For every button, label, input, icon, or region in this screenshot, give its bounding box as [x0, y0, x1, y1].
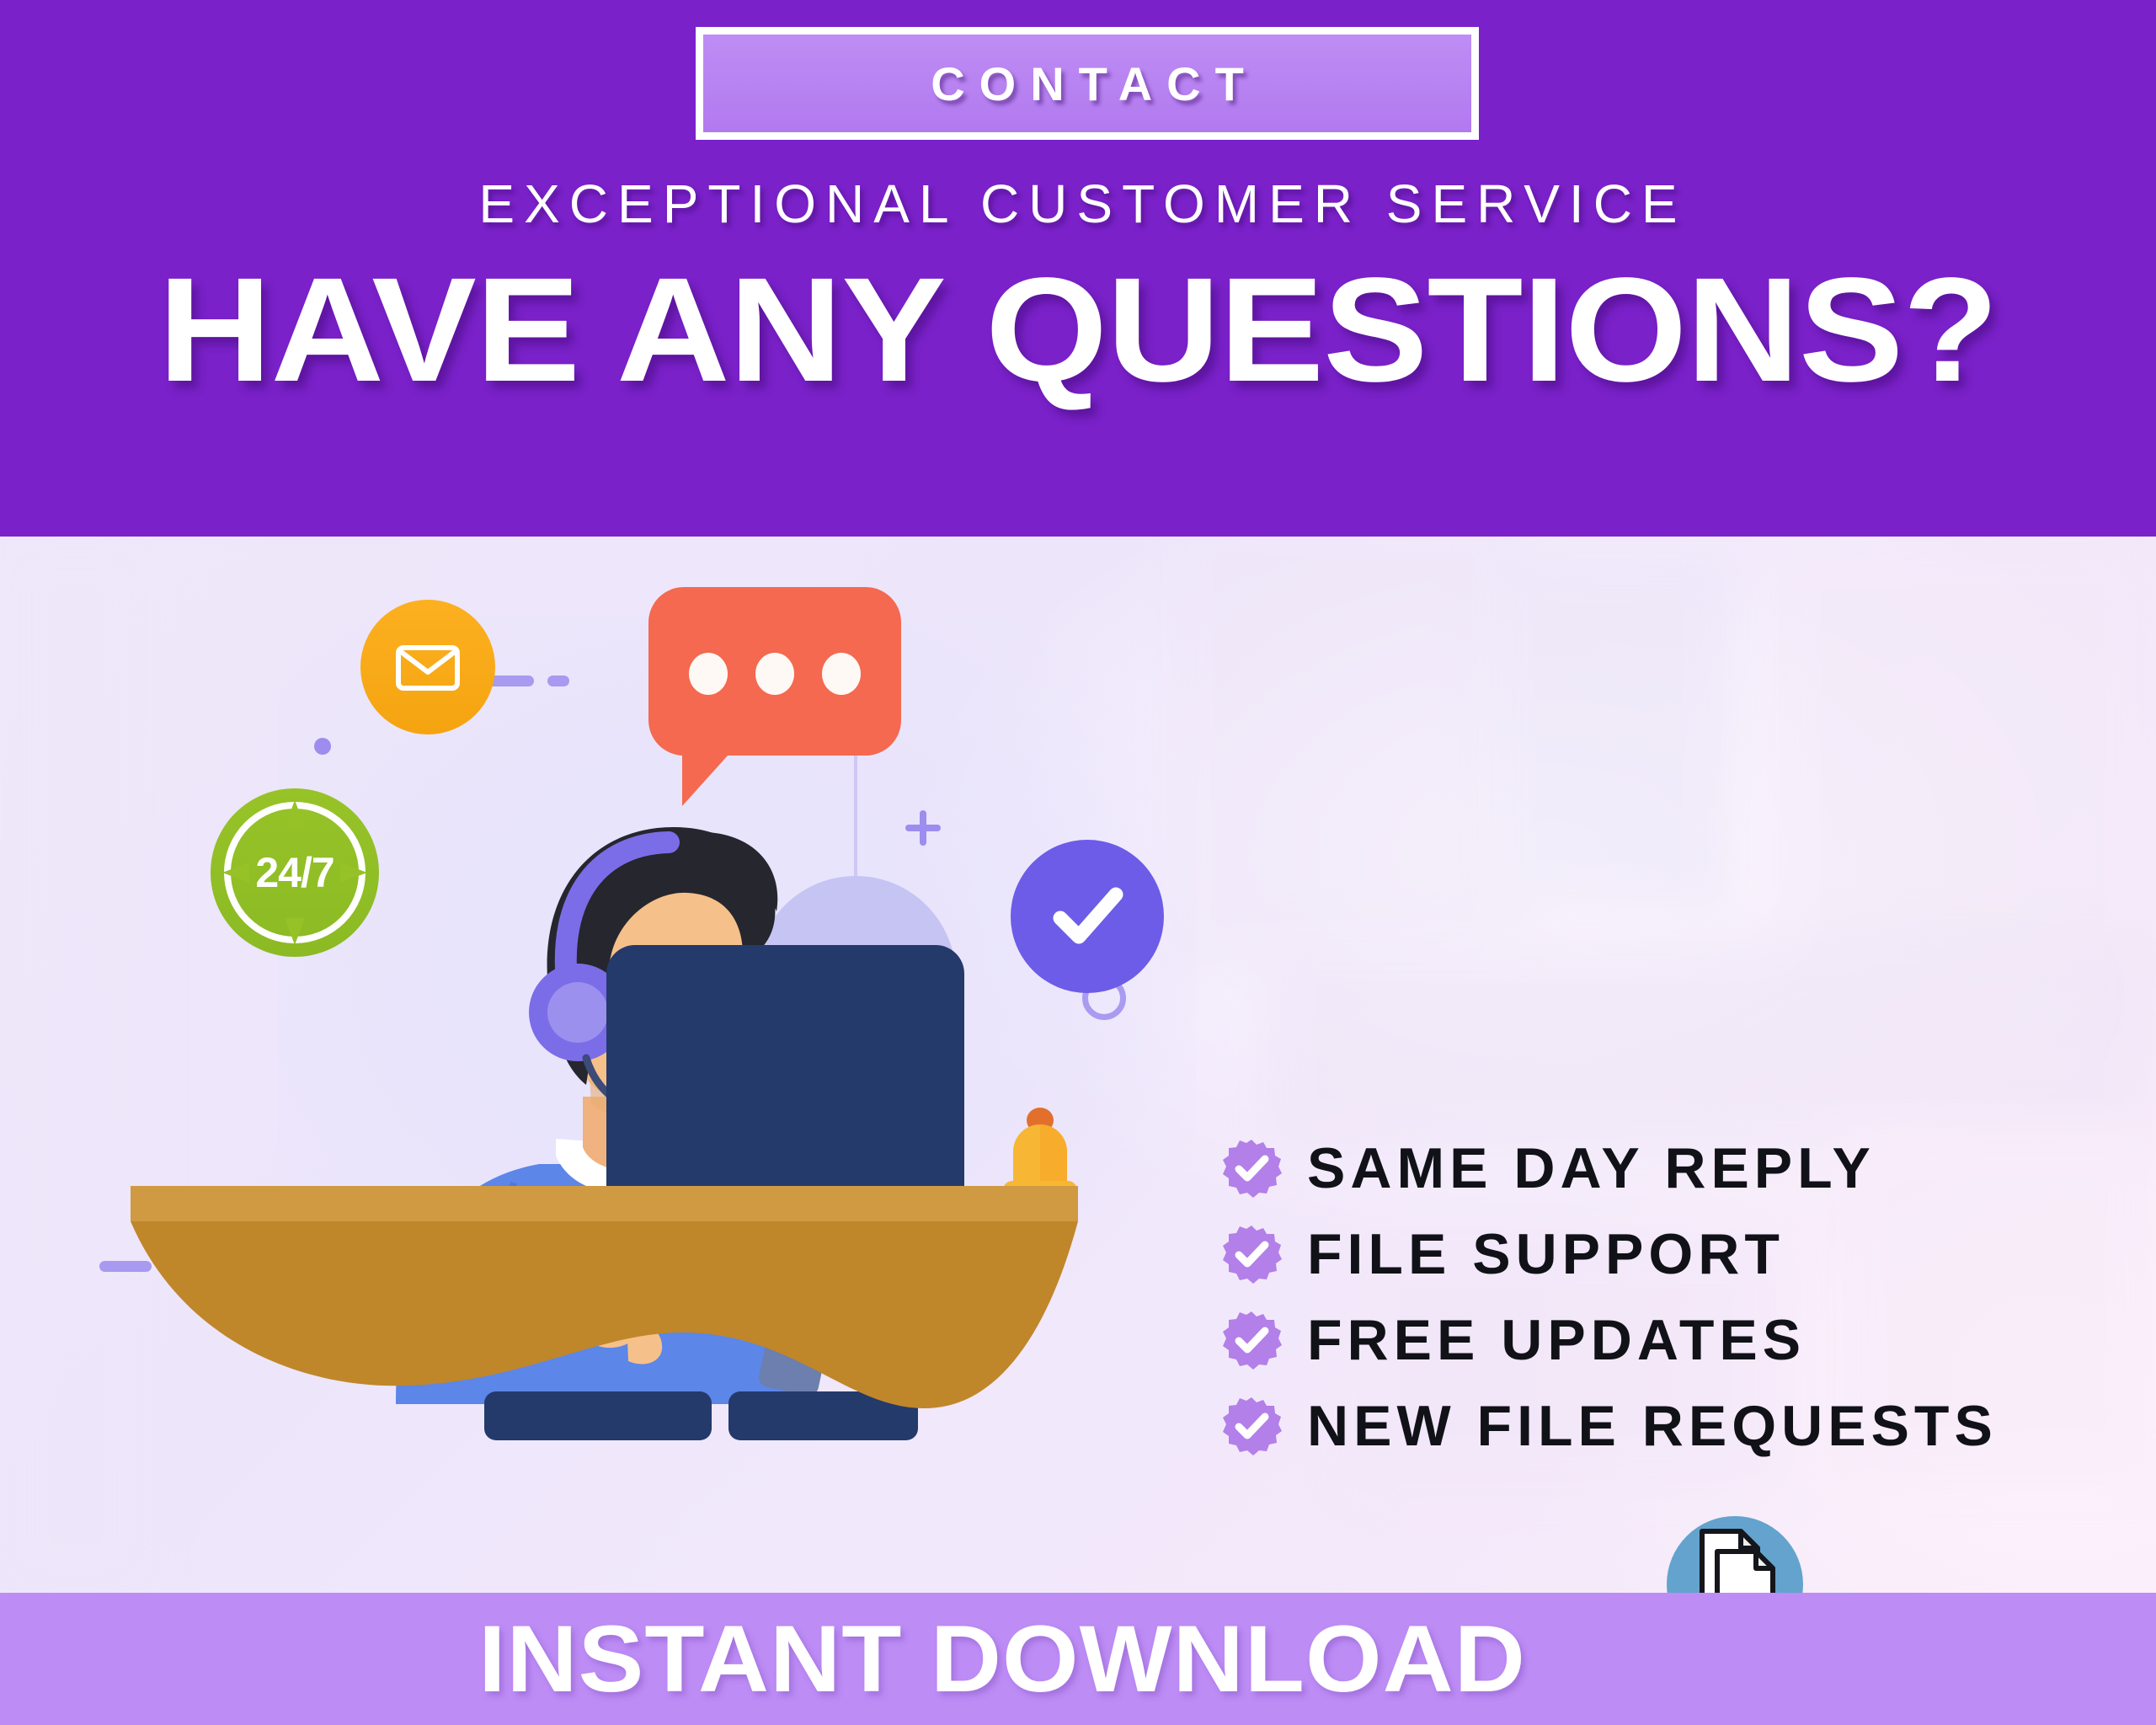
check-badge-icon	[1221, 1310, 1282, 1370]
poster-canvas: CONTACT EXCEPTIONAL CUSTOMER SERVICE HAV…	[0, 0, 2156, 1725]
feature-label: FILE SUPPORT	[1307, 1221, 1785, 1287]
feature-label: NEW FILE REQUESTS	[1307, 1393, 1998, 1459]
list-item: FILE SUPPORT	[1221, 1222, 2063, 1286]
support-illustration: 24/7	[118, 558, 1162, 1560]
feature-label: SAME DAY REPLY	[1307, 1135, 1876, 1201]
header-banner: CONTACT EXCEPTIONAL CUSTOMER SERVICE HAV…	[0, 0, 2156, 537]
contact-badge: CONTACT	[696, 27, 1479, 140]
feature-list: SAME DAY REPLY FILE SUPPORT	[1221, 1136, 2063, 1480]
header-subtitle: EXCEPTIONAL CUSTOMER SERVICE	[0, 173, 2156, 235]
content-stage: 24/7	[0, 537, 2156, 1593]
list-item: NEW FILE REQUESTS	[1221, 1394, 2063, 1458]
list-item: FREE UPDATES	[1221, 1308, 2063, 1372]
check-badge-icon	[1221, 1396, 1282, 1456]
contact-badge-label: CONTACT	[916, 56, 1258, 111]
page-title: HAVE ANY QUESTIONS?	[0, 253, 2156, 409]
clock-label: 24/7	[255, 848, 334, 897]
list-item: SAME DAY REPLY	[1221, 1136, 2063, 1200]
desk	[131, 1179, 1078, 1474]
feature-label: FREE UPDATES	[1307, 1307, 1806, 1373]
check-badge-icon	[1221, 1138, 1282, 1199]
instant-download-label: INSTANT DOWNLOAD	[478, 1605, 1526, 1713]
check-badge-icon	[1221, 1224, 1282, 1284]
footer-bar: INSTANT DOWNLOAD	[0, 1593, 2156, 1725]
